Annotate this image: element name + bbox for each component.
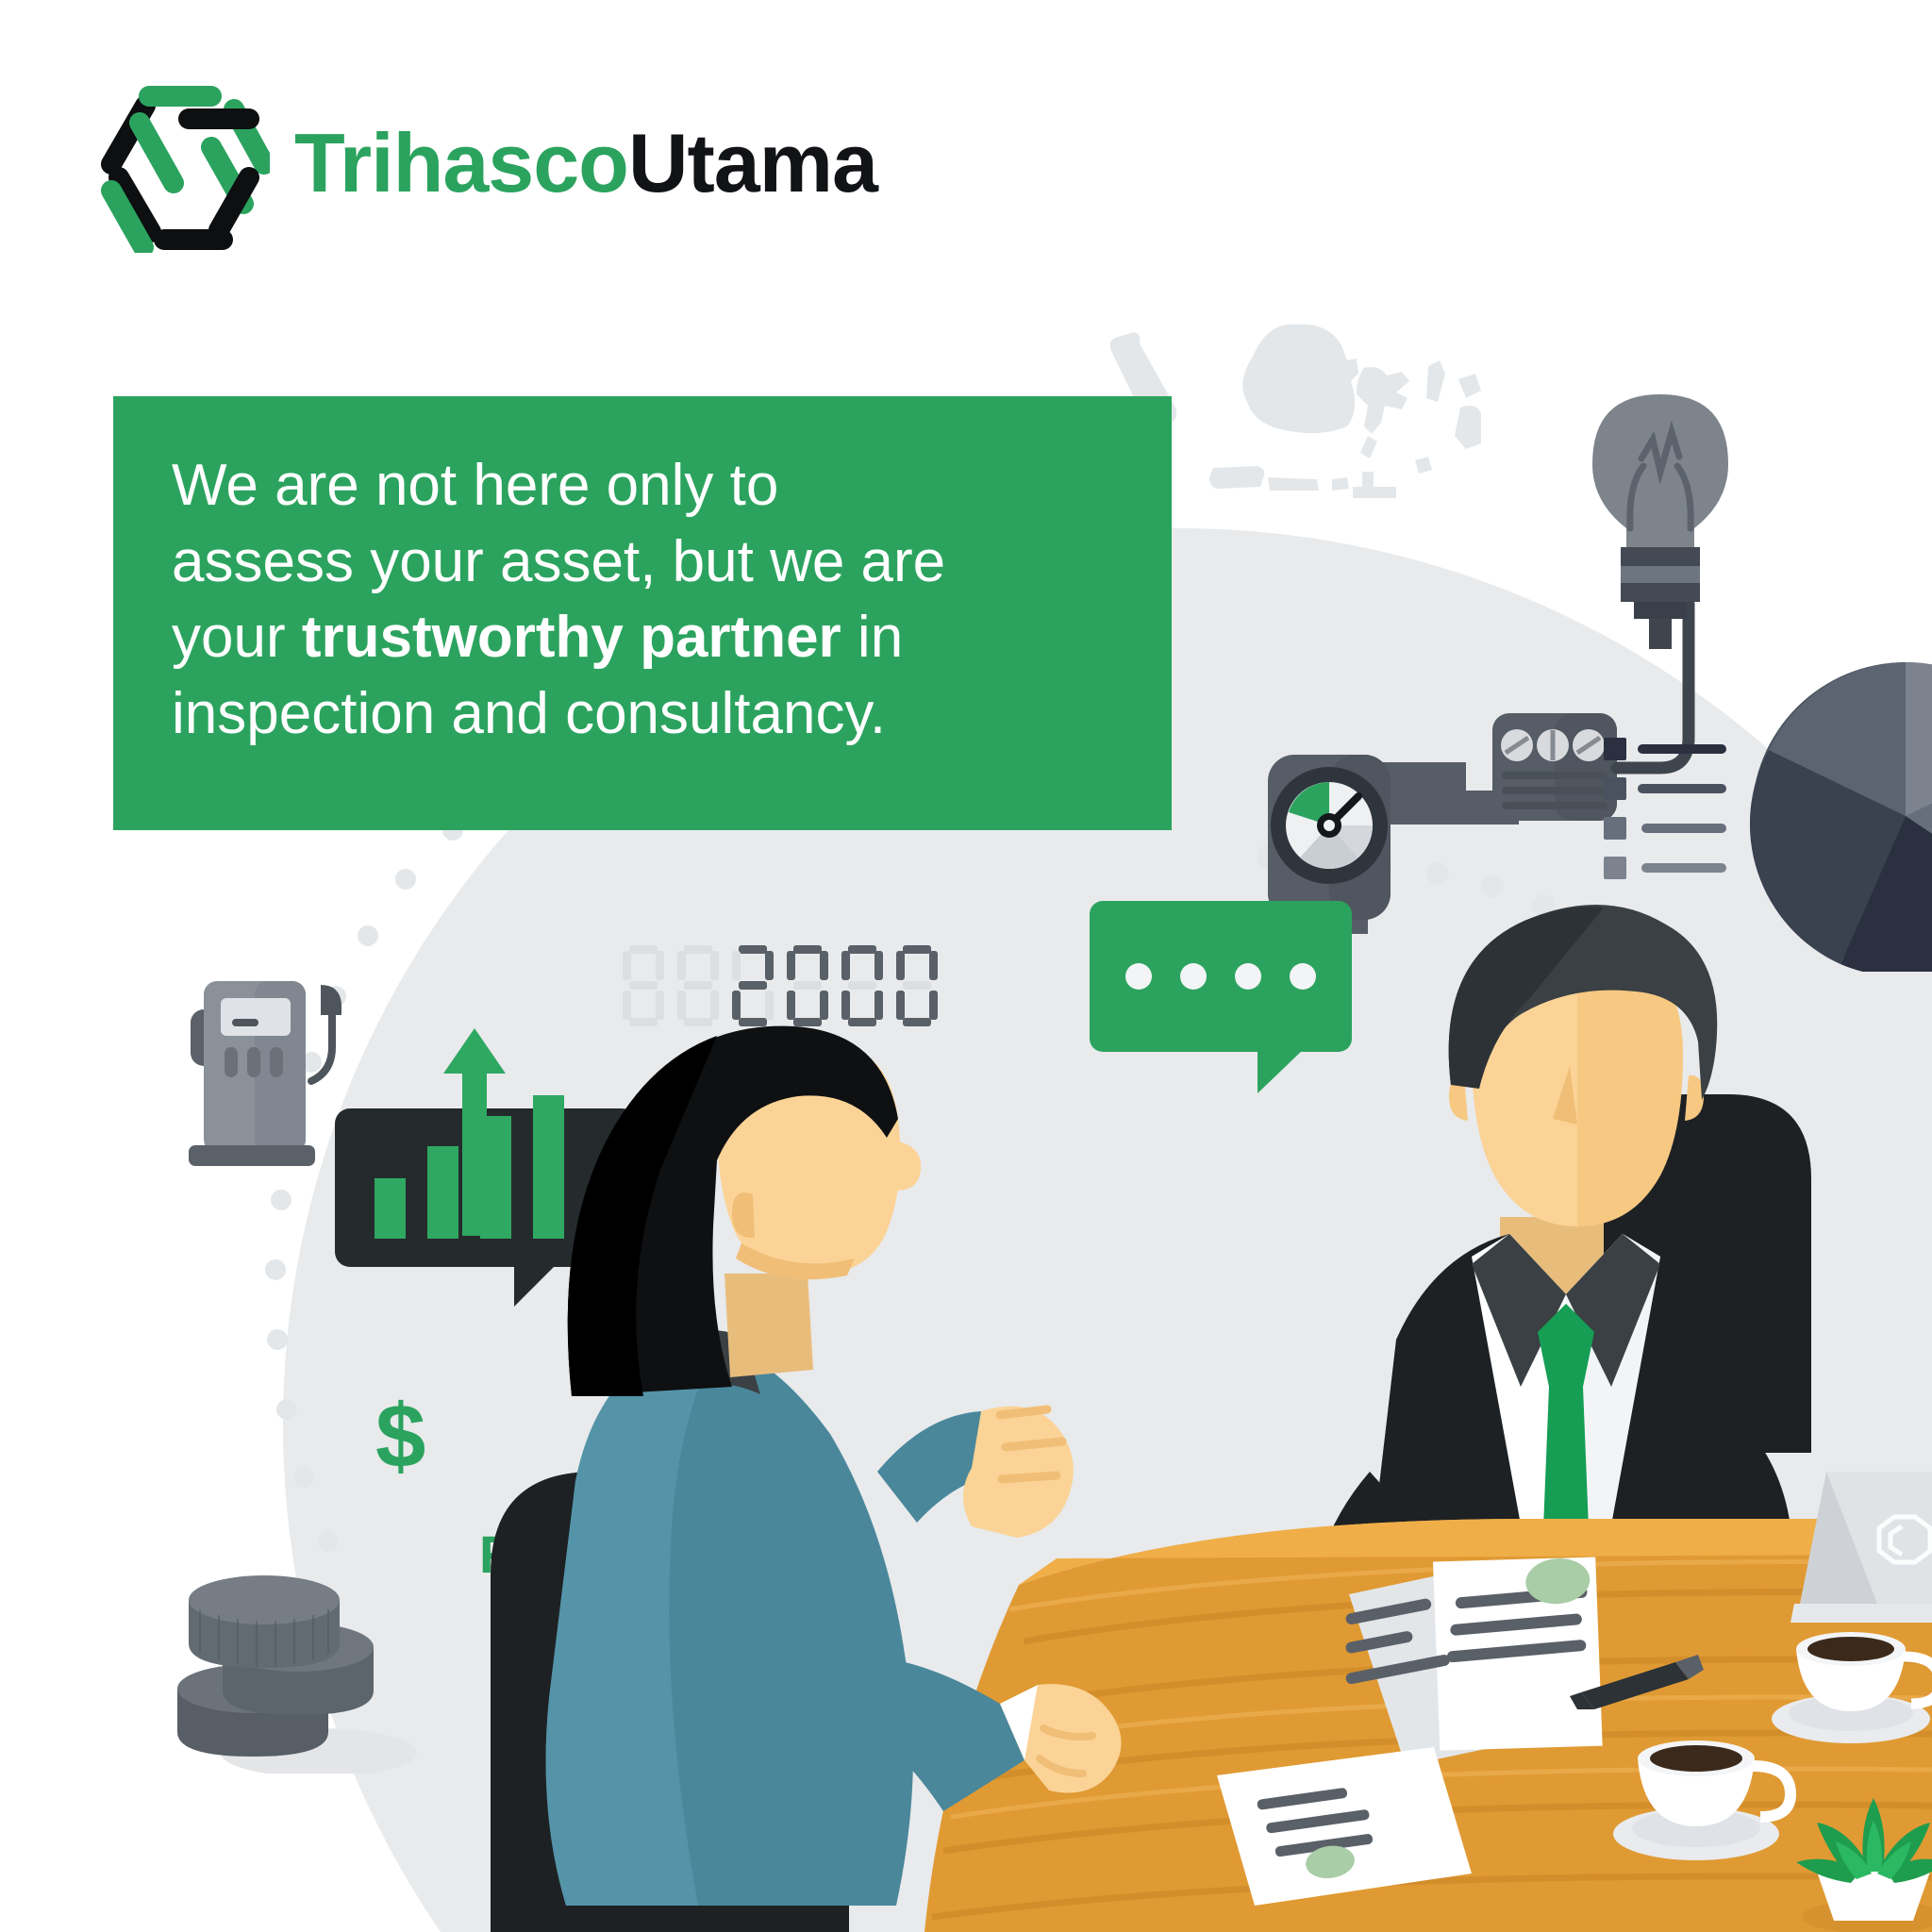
brand-name-part2: Utama [628,116,877,209]
headline-line-3-post: in [841,605,903,670]
poster-canvas: 2000 [0,0,1932,1932]
headline-line-3: your trustworthy partner in [172,600,1115,676]
headline-emphasis: trustworthy partner [302,605,841,670]
headline-banner: We are not here only to assess your asse… [113,396,1172,830]
headline-line-3-pre: your [172,605,302,670]
meeting-scene [0,0,1932,1932]
laptop-icon [1790,1472,1932,1623]
brand-name-part1: Trihasco [294,116,628,209]
brand-logo[interactable]: TrihascoUtama [91,74,877,253]
headline-text: We are not here only to assess your asse… [172,448,1115,752]
headline-line-1: We are not here only to [172,448,1115,525]
headline-line-4: inspection and consultancy. [172,676,1115,753]
headline-line-2: assess your asset, but we are [172,525,1115,601]
brand-wordmark: TrihascoUtama [294,122,877,205]
hexagon-interlock-logo-icon [91,74,270,253]
